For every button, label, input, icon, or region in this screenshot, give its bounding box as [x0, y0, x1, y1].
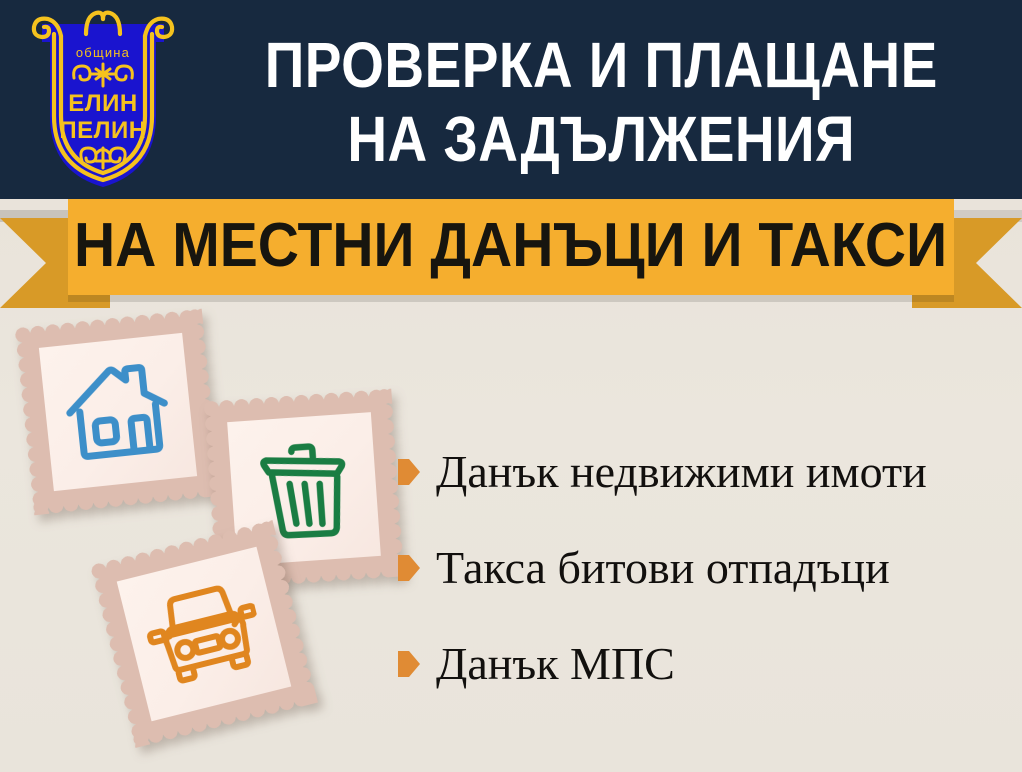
header-title: ПРОВЕРКА И ПЛАЩАНЕ НА ЗАДЪЛЖЕНИЯ [185, 14, 1017, 189]
subtitle-ribbon: НА МЕСТНИ ДАНЪЦИ И ТАКСИ [0, 199, 1022, 309]
title-line-2: НА ЗАДЪЛЖЕНИЯ [347, 102, 855, 176]
logo-name-line1: ЕЛИН [68, 90, 137, 117]
municipality-logo: община ЕЛИН ПЕЛИН [28, 6, 178, 191]
poster-canvas: община ЕЛИН ПЕЛИН [0, 0, 1022, 772]
list-item[interactable]: Такса битови отпадъци [398, 520, 1018, 616]
list-item-label: Такса битови отпадъци [436, 543, 890, 593]
bullet-arrow-icon [398, 459, 420, 485]
title-line-1: ПРОВЕРКА И ПЛАЩАНЕ [265, 28, 938, 102]
logo-top-text: община [76, 45, 130, 60]
list-item-label: Данък недвижими имоти [436, 447, 927, 497]
house-icon [59, 358, 177, 467]
header-bar: община ЕЛИН ПЕЛИН [0, 0, 1022, 199]
stamp-house [15, 309, 222, 516]
car-front-icon [139, 576, 270, 692]
ribbon-label: НА МЕСТНИ ДАНЪЦИ И ТАКСИ [74, 215, 947, 280]
list-item[interactable]: Данък МПС [398, 616, 1018, 712]
coat-of-arms-icon: община ЕЛИН ПЕЛИН [28, 6, 178, 191]
ribbon-center-panel: НА МЕСТНИ ДАНЪЦИ И ТАКСИ [68, 199, 954, 295]
bullet-arrow-icon [398, 651, 420, 677]
list-item[interactable]: Данък недвижими имоти [398, 424, 1018, 520]
obligations-list: Данък недвижими имоти Такса битови отпад… [398, 424, 1018, 712]
logo-name-line2: ПЕЛИН [59, 117, 146, 144]
list-item-label: Данък МПС [436, 639, 675, 689]
stamp-face [39, 333, 197, 491]
bullet-arrow-icon [398, 555, 420, 581]
